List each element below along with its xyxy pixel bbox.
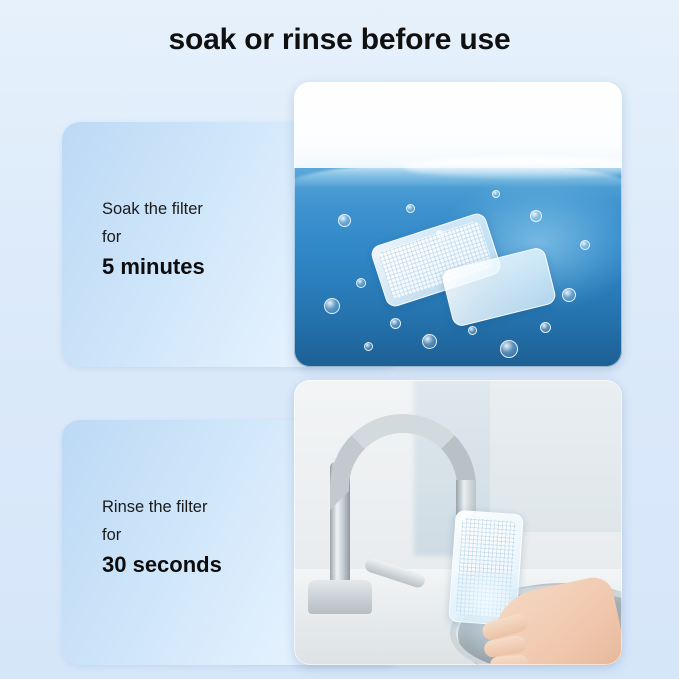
soak-photo — [294, 82, 622, 367]
bubble-icon — [390, 318, 401, 329]
step-rinse: Rinse the filter for 30 seconds — [62, 380, 622, 665]
bubble-icon — [338, 214, 351, 227]
page-title: soak or rinse before use — [0, 23, 679, 57]
faucet-base — [308, 580, 372, 614]
bubble-icon — [356, 278, 366, 288]
step-soak: Soak the filter for 5 minutes — [62, 82, 622, 367]
bubble-icon — [364, 342, 373, 351]
infographic-page: soak or rinse before use Soak the filter… — [0, 0, 679, 679]
bubble-icon — [492, 190, 500, 198]
bubble-icon — [406, 204, 415, 213]
bubble-icon — [468, 326, 477, 335]
bubble-icon — [530, 210, 542, 222]
bubble-icon — [562, 288, 576, 302]
finger — [489, 655, 528, 665]
bubble-icon — [324, 298, 340, 314]
bubble-icon — [500, 340, 518, 358]
bubble-icon — [436, 230, 444, 238]
bubble-icon — [580, 240, 590, 250]
rinse-photo — [294, 380, 622, 665]
bubble-icon — [540, 322, 551, 333]
bubble-icon — [422, 334, 437, 349]
wall-panel — [490, 380, 622, 532]
